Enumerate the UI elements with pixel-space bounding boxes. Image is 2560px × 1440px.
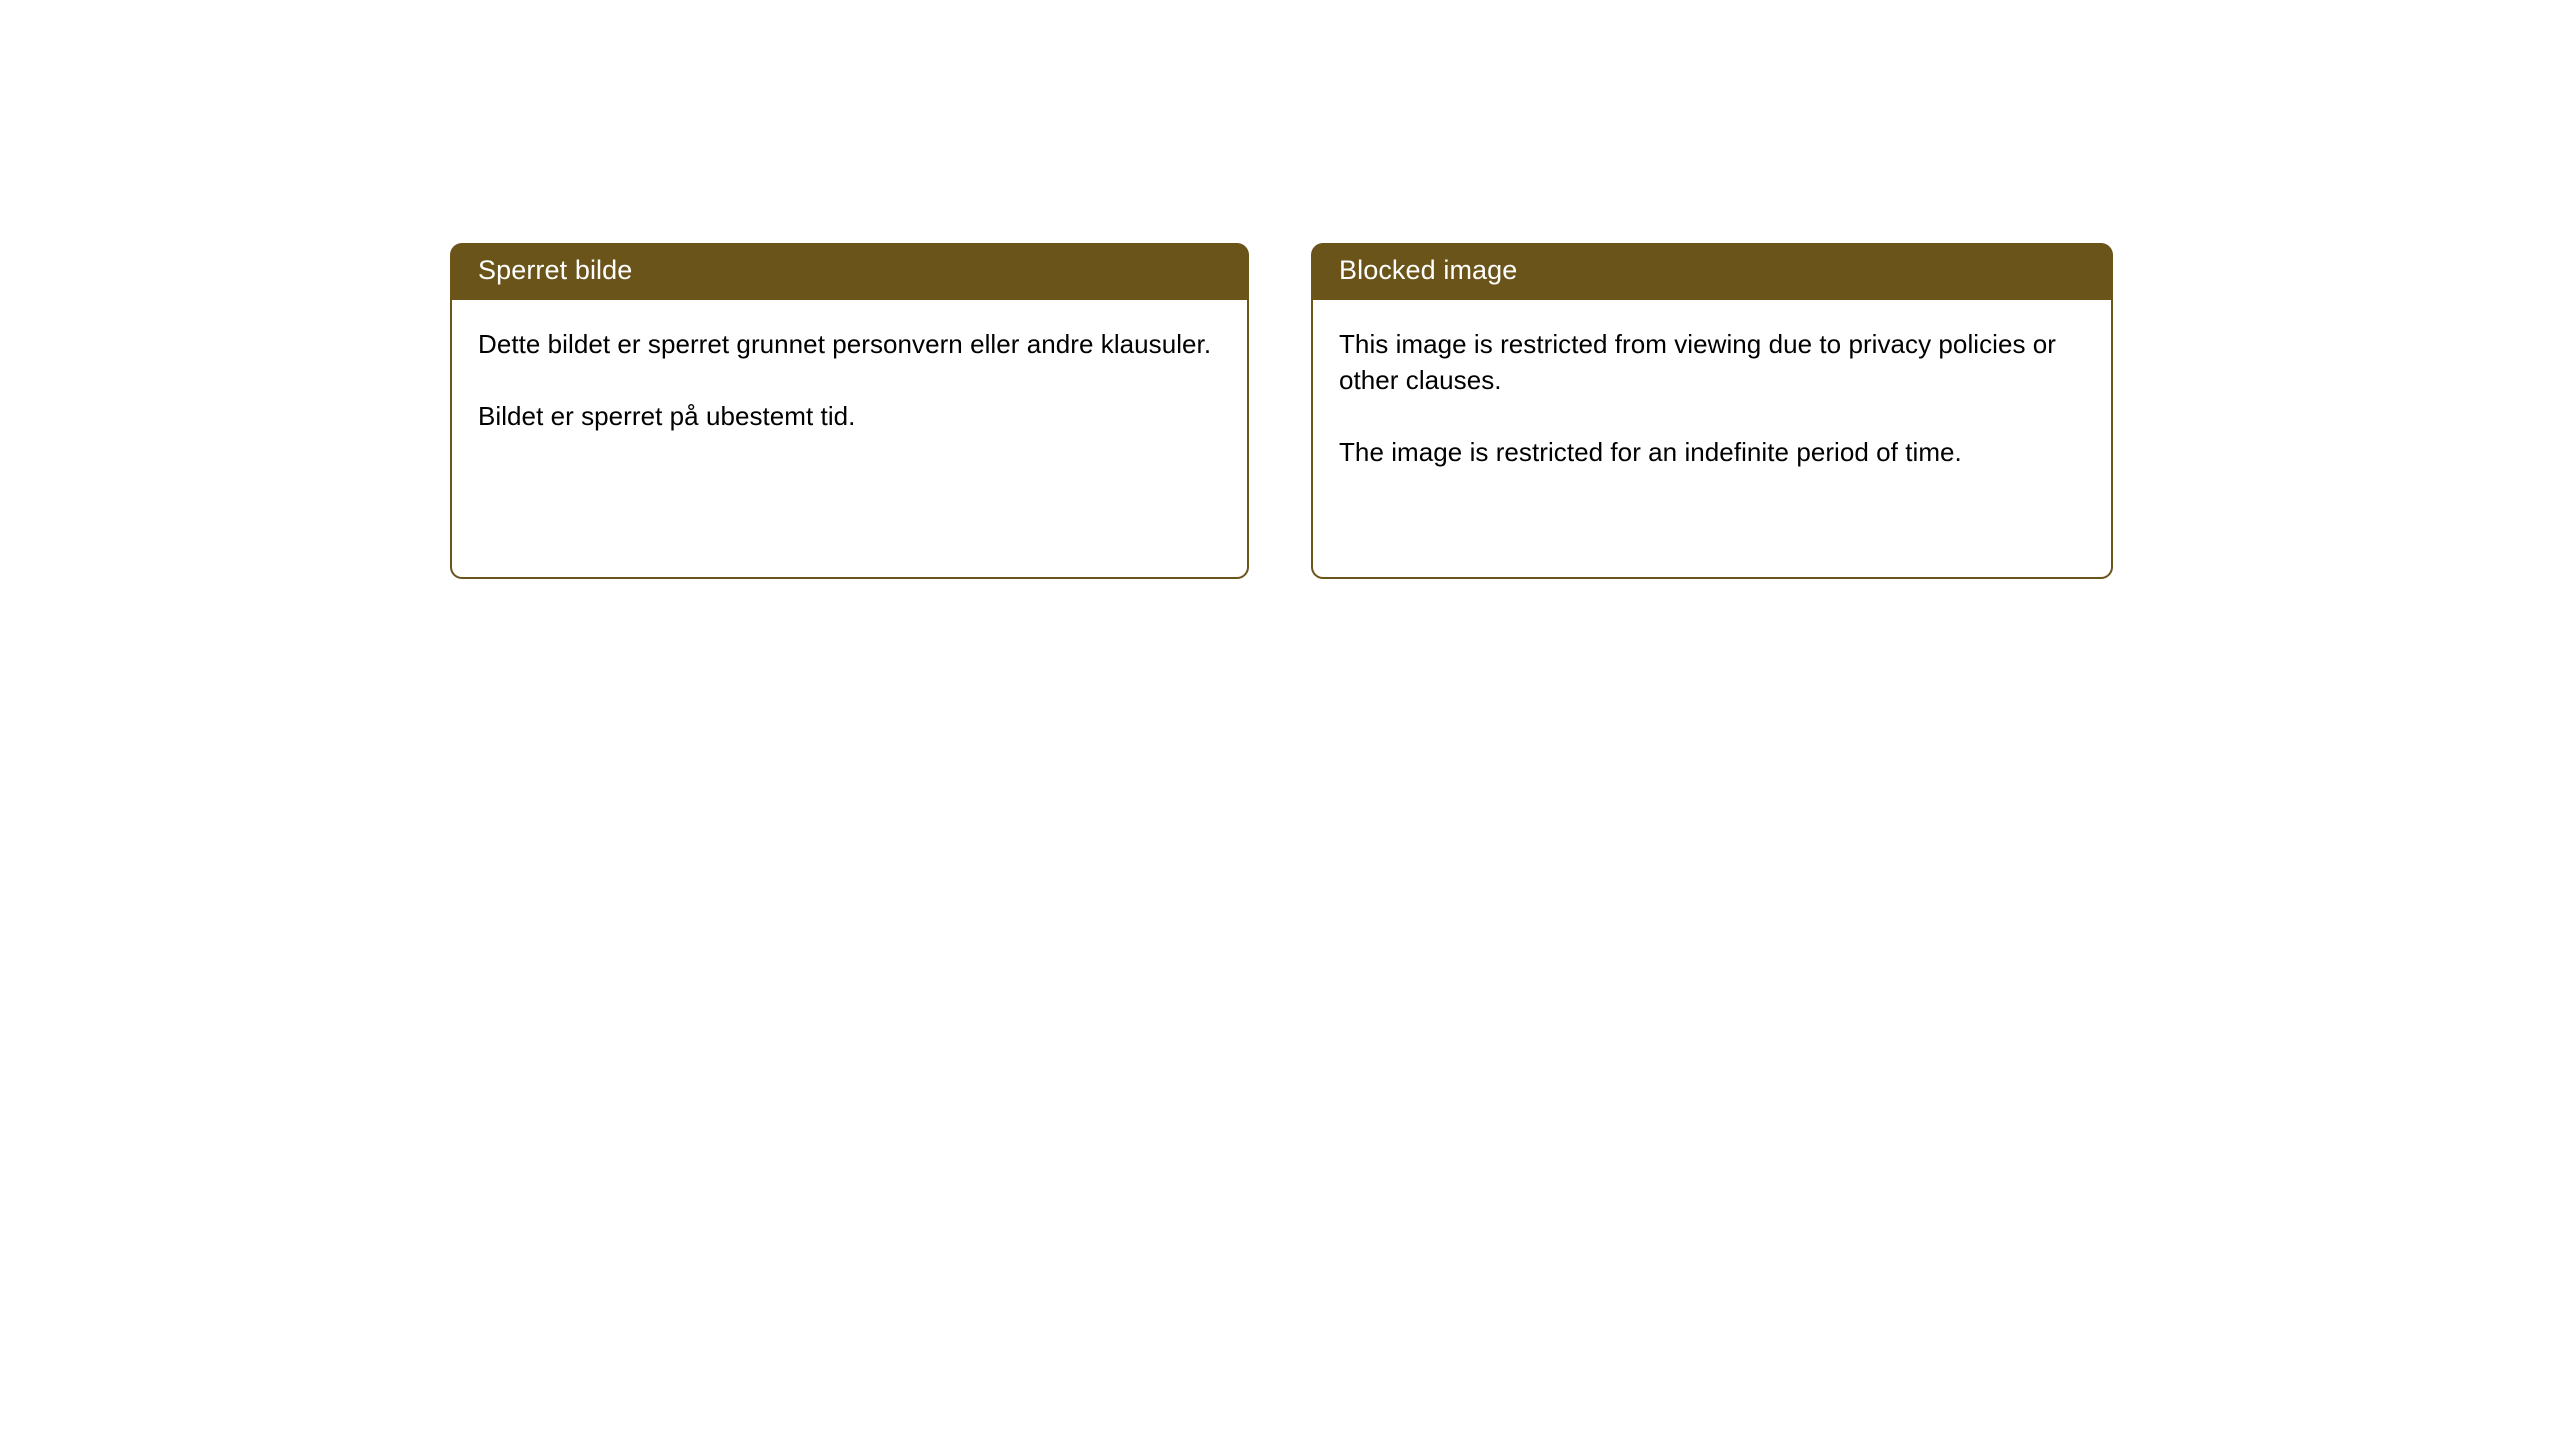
card-paragraph-reason-norwegian: Dette bildet er sperret grunnet personve… <box>478 326 1221 362</box>
card-title-english: Blocked image <box>1339 257 1517 286</box>
card-header-norwegian: Sperret bilde <box>450 243 1249 300</box>
card-title-norwegian: Sperret bilde <box>478 257 632 286</box>
card-paragraph-duration-norwegian: Bildet er sperret på ubestemt tid. <box>478 398 1221 434</box>
blocked-image-card-english: Blocked image This image is restricted f… <box>1311 243 2113 579</box>
notice-stage: Sperret bilde Dette bildet er sperret gr… <box>0 0 2560 1440</box>
card-paragraph-duration-english: The image is restricted for an indefinit… <box>1339 434 2085 470</box>
card-body-english: This image is restricted from viewing du… <box>1311 300 2113 579</box>
card-header-english: Blocked image <box>1311 243 2113 300</box>
card-paragraph-reason-english: This image is restricted from viewing du… <box>1339 326 2085 398</box>
blocked-image-card-norwegian: Sperret bilde Dette bildet er sperret gr… <box>450 243 1249 579</box>
card-body-norwegian: Dette bildet er sperret grunnet personve… <box>450 300 1249 579</box>
